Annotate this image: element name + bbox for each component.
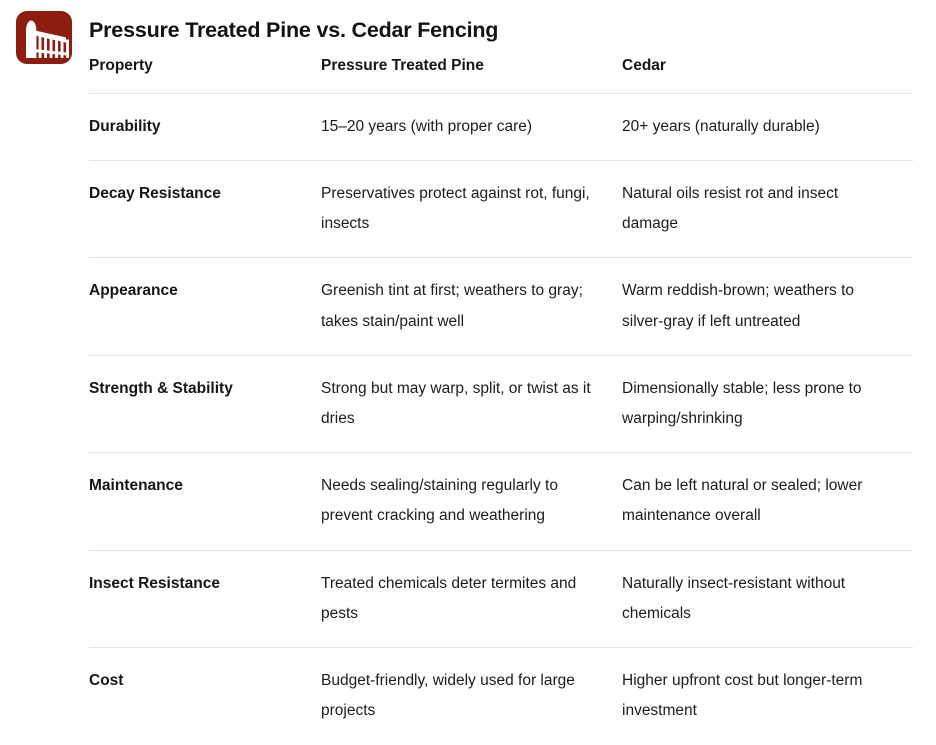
cell-property: Decay Resistance bbox=[89, 160, 321, 257]
page-title: Pressure Treated Pine vs. Cedar Fencing bbox=[89, 18, 913, 44]
content-column: Pressure Treated Pine vs. Cedar Fencing … bbox=[89, 0, 913, 745]
comparison-table: Property Pressure Treated Pine Cedar Dur… bbox=[89, 56, 913, 745]
cell-pine: Budget-friendly, widely used for large p… bbox=[321, 648, 622, 745]
cell-pine: Needs sealing/staining regularly to prev… bbox=[321, 453, 622, 550]
column-header-cedar: Cedar bbox=[622, 56, 913, 93]
cell-pine: 15–20 years (with proper care) bbox=[321, 93, 622, 160]
column-header-property: Property bbox=[89, 56, 321, 93]
cell-cedar: Can be left natural or sealed; lower mai… bbox=[622, 453, 913, 550]
table-header-row: Property Pressure Treated Pine Cedar bbox=[89, 56, 913, 93]
cell-property: Durability bbox=[89, 93, 321, 160]
cell-property: Insect Resistance bbox=[89, 550, 321, 647]
table-row: Appearance Greenish tint at first; weath… bbox=[89, 258, 913, 355]
comparison-table-page: Pressure Treated Pine vs. Cedar Fencing … bbox=[0, 0, 936, 714]
column-header-pressure-treated-pine: Pressure Treated Pine bbox=[321, 56, 622, 93]
table-row: Durability 15–20 years (with proper care… bbox=[89, 93, 913, 160]
table-row: Decay Resistance Preservatives protect a… bbox=[89, 160, 913, 257]
fence-icon bbox=[16, 11, 72, 64]
cell-property: Maintenance bbox=[89, 453, 321, 550]
cell-cedar: Dimensionally stable; less prone to warp… bbox=[622, 355, 913, 452]
cell-property: Cost bbox=[89, 648, 321, 745]
cell-property: Appearance bbox=[89, 258, 321, 355]
cell-cedar: Naturally insect-resistant without chemi… bbox=[622, 550, 913, 647]
cell-pine: Treated chemicals deter termites and pes… bbox=[321, 550, 622, 647]
cell-pine: Preservatives protect against rot, fungi… bbox=[321, 160, 622, 257]
cell-cedar: Higher upfront cost but longer-term inve… bbox=[622, 648, 913, 745]
cell-cedar: Natural oils resist rot and insect damag… bbox=[622, 160, 913, 257]
table-row: Strength & Stability Strong but may warp… bbox=[89, 355, 913, 452]
table-row: Maintenance Needs sealing/staining regul… bbox=[89, 453, 913, 550]
table-row: Insect Resistance Treated chemicals dete… bbox=[89, 550, 913, 647]
cell-pine: Strong but may warp, split, or twist as … bbox=[321, 355, 622, 452]
cell-cedar: 20+ years (naturally durable) bbox=[622, 93, 913, 160]
table-body: Durability 15–20 years (with proper care… bbox=[89, 93, 913, 744]
cell-pine: Greenish tint at first; weathers to gray… bbox=[321, 258, 622, 355]
table-row: Cost Budget-friendly, widely used for la… bbox=[89, 648, 913, 745]
cell-property: Strength & Stability bbox=[89, 355, 321, 452]
cell-cedar: Warm reddish-brown; weathers to silver-g… bbox=[622, 258, 913, 355]
